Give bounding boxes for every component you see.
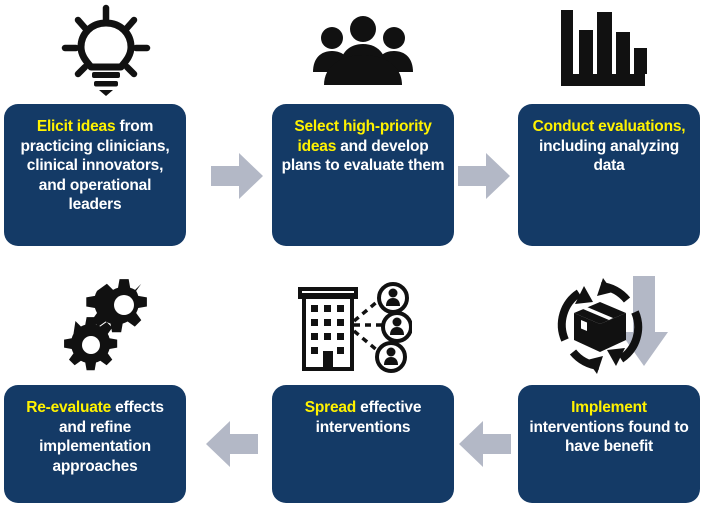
step-text-implement: Implement interventions found to have be…: [527, 398, 691, 457]
arrow-select-to-conduct: [458, 153, 510, 199]
building-network-icon: [292, 281, 412, 373]
step-box-select[interactable]: Select high-priority ideas and develop p…: [272, 104, 454, 246]
step-text-select: Select high-priority ideas and develop p…: [281, 117, 445, 176]
step-box-spread[interactable]: Spread effective interventions: [272, 385, 454, 503]
step-box-implement[interactable]: Implement interventions found to have be…: [518, 385, 700, 503]
step-box-conduct[interactable]: Conduct evaluations, including analyzing…: [518, 104, 700, 246]
step-emphasis-reevaluate: Re-evaluate: [26, 399, 111, 416]
gears-icon: [62, 276, 156, 372]
step-emphasis-elicit: Elicit ideas: [37, 118, 116, 135]
step-emphasis-conduct: Conduct evaluations,: [533, 118, 686, 135]
bar-chart-icon: [557, 6, 649, 92]
package-cycle-icon: [551, 278, 649, 374]
step-text-reevaluate: Re-evaluate effects and refine implement…: [13, 398, 177, 476]
arrow-elicit-to-select: [211, 153, 263, 199]
step-text-elicit: Elicit ideas from practicing clinicians,…: [13, 117, 177, 215]
people-group-icon: [311, 10, 415, 88]
step-text-spread: Spread effective interventions: [281, 398, 445, 437]
diagram-canvas: Elicit ideas from practicing clinicians,…: [0, 0, 709, 508]
step-rest-implement: interventions found to have benefit: [529, 419, 688, 456]
step-rest-conduct: including analyzing data: [539, 138, 679, 175]
lightbulb-icon: [56, 4, 156, 94]
step-emphasis-implement: Implement: [571, 399, 647, 416]
step-box-reevaluate[interactable]: Re-evaluate effects and refine implement…: [4, 385, 186, 503]
step-text-conduct: Conduct evaluations, including analyzing…: [527, 117, 691, 176]
step-emphasis-spread: Spread: [305, 399, 356, 416]
arrow-implement-to-spread: [459, 421, 511, 467]
arrow-spread-to-reevaluate: [206, 421, 258, 467]
step-box-elicit[interactable]: Elicit ideas from practicing clinicians,…: [4, 104, 186, 246]
